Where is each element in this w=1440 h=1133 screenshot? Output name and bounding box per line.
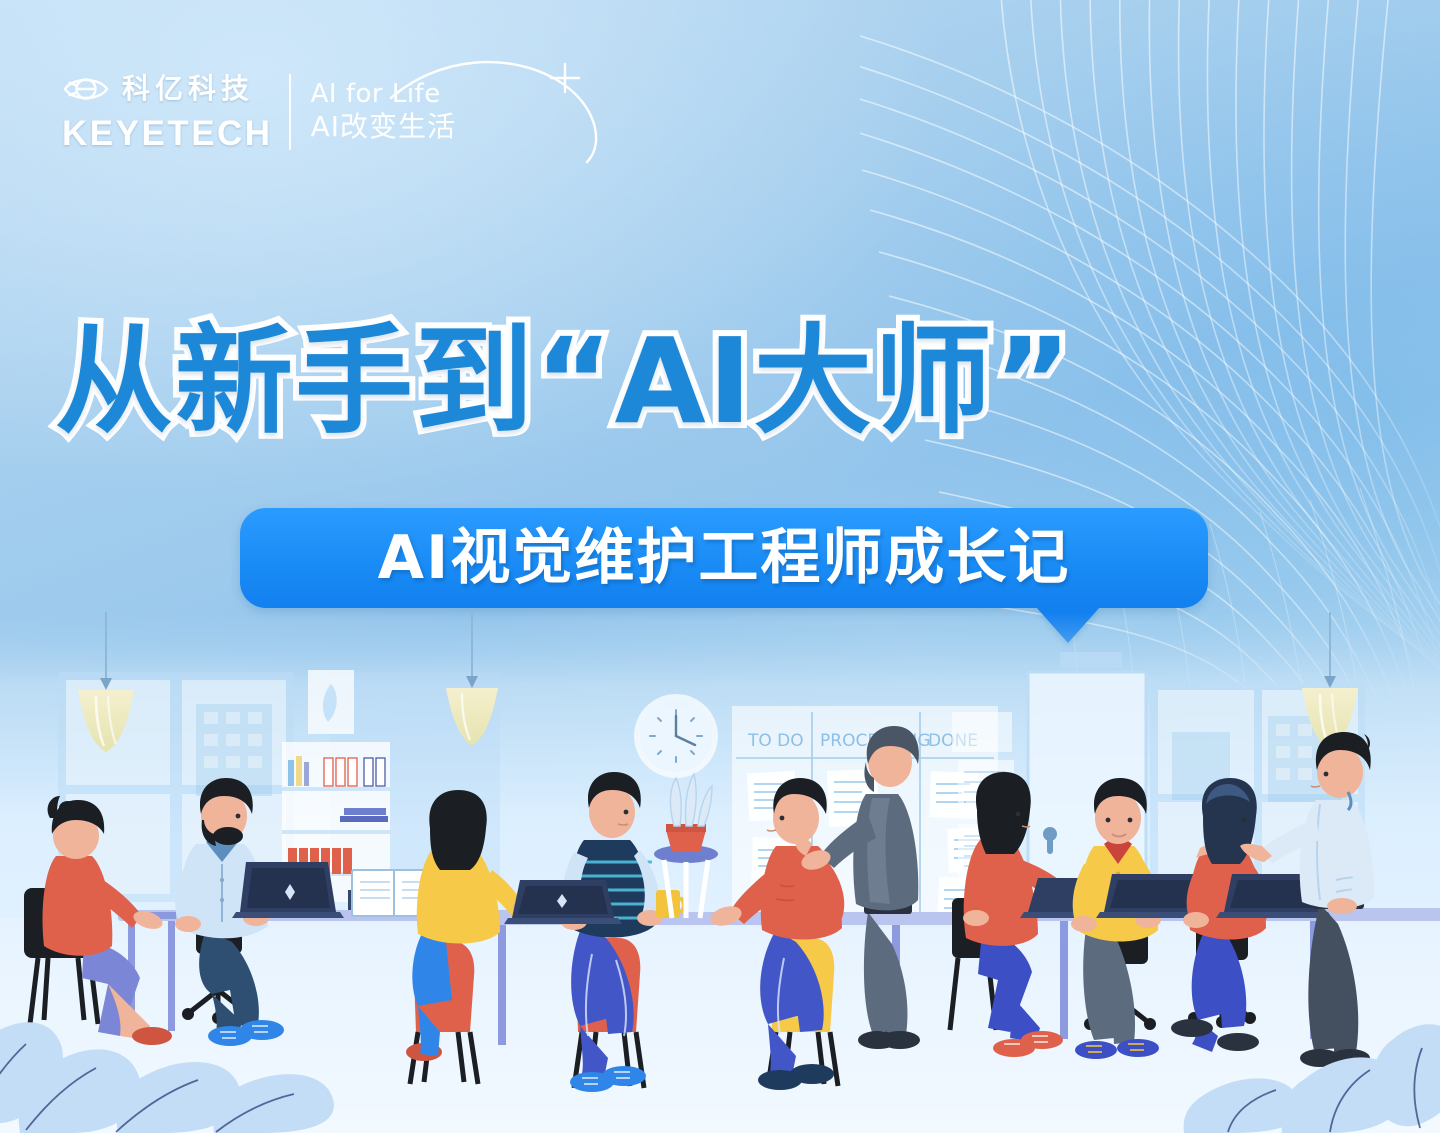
eye-icon — [62, 72, 110, 106]
framed-picture — [308, 670, 354, 734]
hero-subtitle-banner: AI视觉维护工程师成长记 — [240, 508, 1208, 608]
arc-sparkle-icon — [381, 58, 621, 168]
wall-clock — [634, 694, 718, 778]
subtitle-banner-body: AI视觉维护工程师成长记 — [240, 508, 1208, 608]
laptop — [232, 862, 344, 918]
poster-canvas: 科亿科技 KEYETECH AI for Life AI改变生活 从新手到“AI… — [0, 0, 1440, 1133]
brand-logo-primary: 科亿科技 KEYETECH — [62, 72, 273, 151]
brand-tagline: AI for Life AI改变生活 — [311, 80, 456, 143]
kanban-col-todo: TO DO — [747, 731, 804, 751]
hero-subtitle: AI视觉维护工程师成长记 — [378, 528, 1071, 588]
brand-logo: 科亿科技 KEYETECH AI for Life AI改变生活 — [62, 72, 456, 151]
brand-name-cn: 科亿科技 — [122, 75, 254, 103]
logo-divider — [289, 74, 291, 150]
brand-name-en: KEYETECH — [62, 116, 273, 151]
hero-title: 从新手到“AI大师” — [55, 322, 1395, 440]
office-team-illustration: TO DO PROCESSING DONE — [0, 612, 1440, 1133]
laptop — [504, 880, 622, 924]
